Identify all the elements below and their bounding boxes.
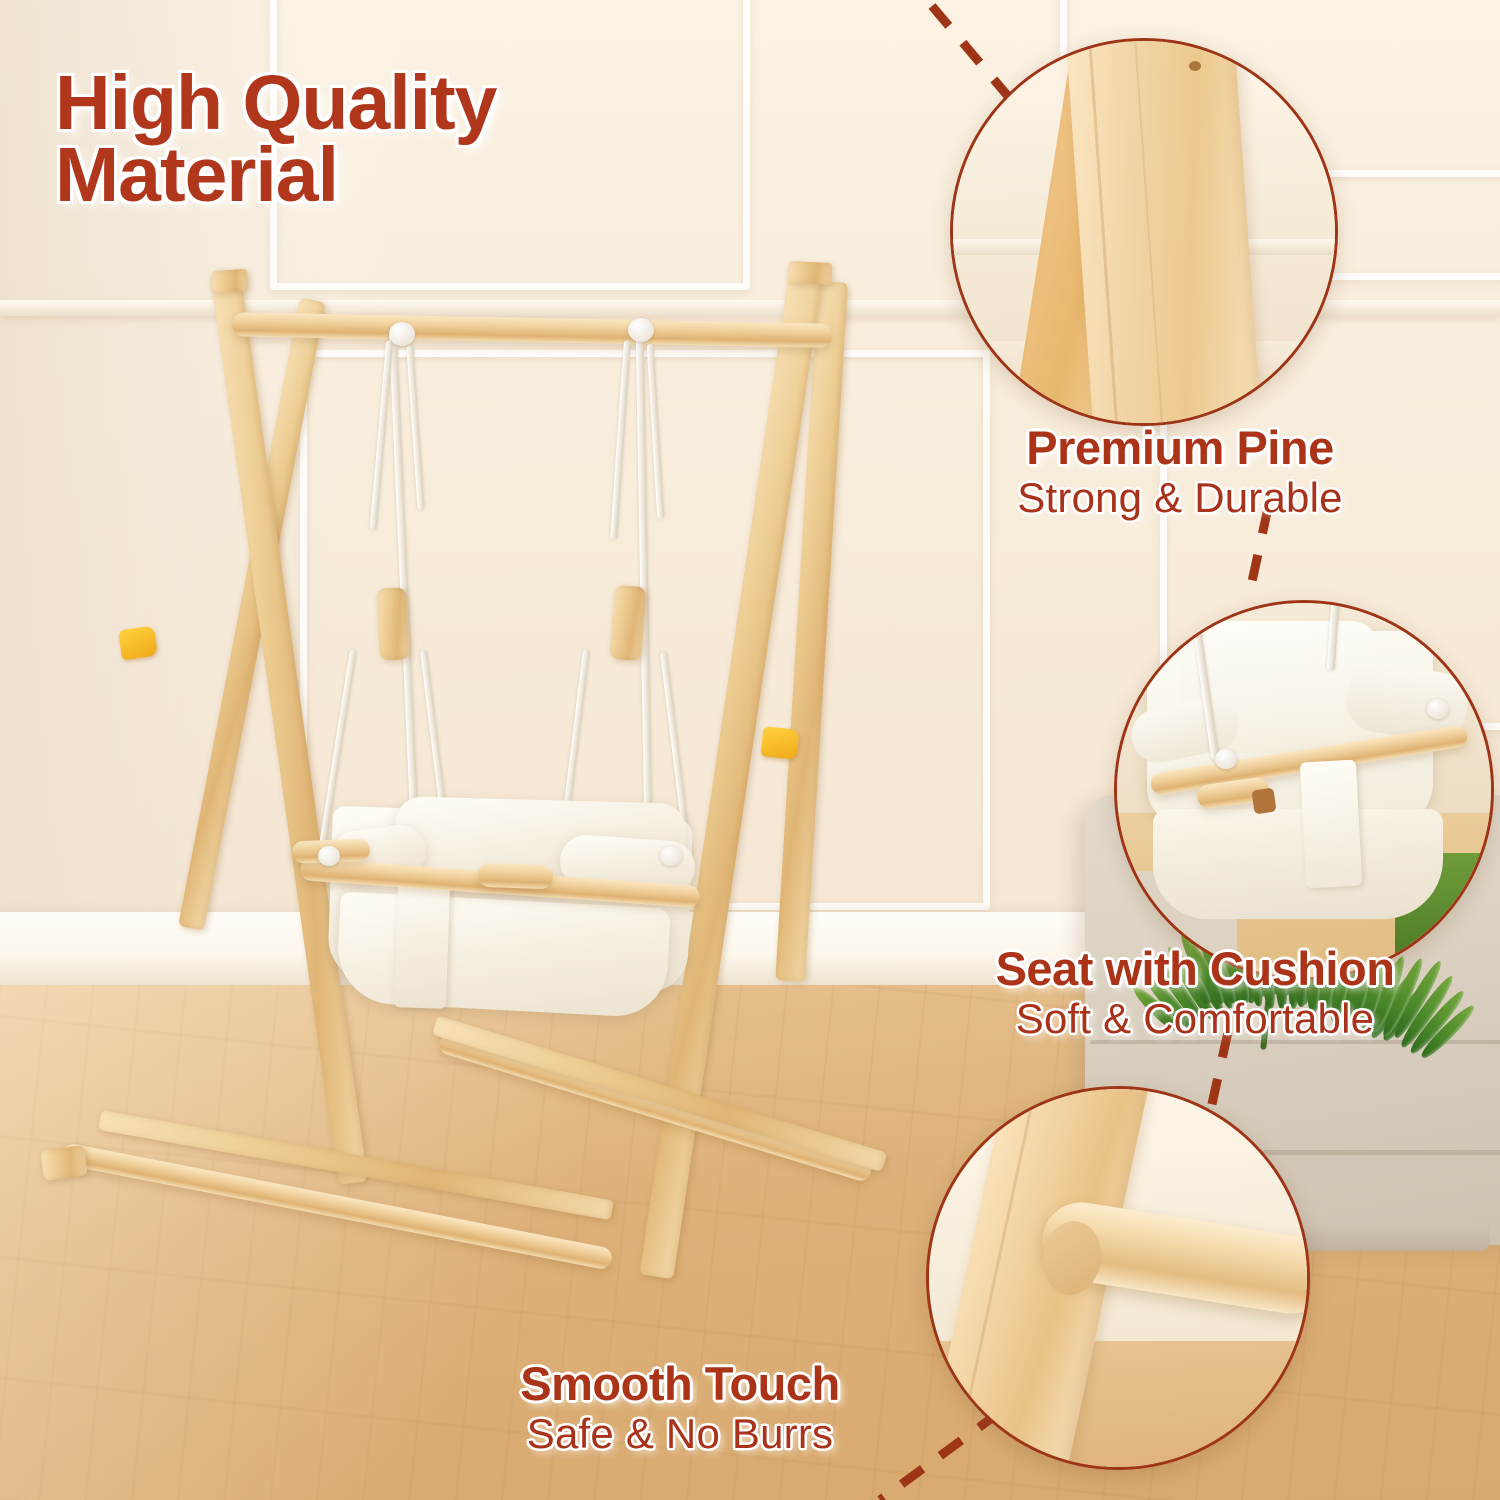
callout-subtitle: Strong & Durable <box>930 475 1430 520</box>
callout-subtitle: Safe & No Burrs <box>400 1411 960 1456</box>
callout-title: Seat with Cushion <box>895 945 1495 994</box>
leader-line-seat <box>1248 508 1268 600</box>
callout-title: Smooth Touch <box>400 1360 960 1409</box>
product-feature-graphic: High Quality Material Premium Pine Stron… <box>0 0 1500 1500</box>
inset-seat <box>1114 600 1494 980</box>
callout-seat-with-cushion: Seat with Cushion Soft & Comfortable <box>895 945 1495 1041</box>
inset-pine-grain <box>950 38 1338 426</box>
callout-premium-pine: Premium Pine Strong & Durable <box>930 424 1430 520</box>
callout-smooth-touch: Smooth Touch Safe & No Burrs <box>400 1360 960 1456</box>
callout-subtitle: Soft & Comfortable <box>895 996 1495 1041</box>
inset-dowel-joint <box>926 1086 1310 1470</box>
callout-title: Premium Pine <box>930 424 1430 473</box>
